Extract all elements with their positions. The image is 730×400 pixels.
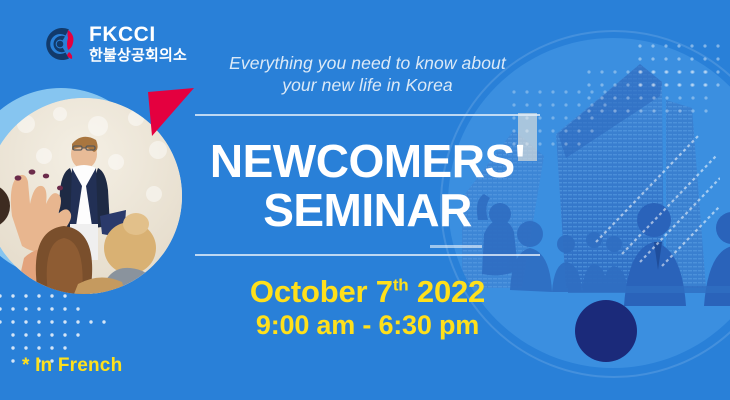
event-date-prefix: October 7 — [250, 274, 393, 309]
event-date-year: 2022 — [417, 274, 485, 309]
divider-top — [195, 114, 540, 116]
divider-bottom — [195, 254, 540, 256]
main-content: Everything you need to know about your n… — [195, 52, 540, 340]
newcomers-seminar-banner: FKCCI 한불상공회의소 Everything you need to kno… — [0, 0, 730, 400]
logo-title: FKCCI — [89, 24, 187, 45]
event-date-ordinal: th — [393, 276, 409, 295]
fkcci-logo-mark — [38, 22, 82, 66]
red-triangle-arrow — [140, 86, 202, 147]
tagline: Everything you need to know about your n… — [195, 52, 540, 97]
logo-text-block: FKCCI 한불상공회의소 — [89, 24, 187, 65]
event-time: 9:00 am - 6:30 pm — [195, 311, 540, 341]
fkcci-logo[interactable]: FKCCI 한불상공회의소 — [38, 22, 187, 66]
event-date: October 7th 2022 — [195, 275, 540, 308]
title-line-1: NEWCOMERS' — [210, 135, 525, 187]
language-footnote: * In French — [22, 355, 122, 377]
navy-accent-circle — [575, 300, 637, 362]
title-line-2: SEMINAR — [263, 184, 472, 236]
page-title: NEWCOMERS' SEMINAR — [195, 137, 540, 235]
tagline-line-1: Everything you need to know about — [229, 53, 506, 73]
logo-subtitle: 한불상공회의소 — [89, 48, 187, 63]
tagline-line-2: your new life in Korea — [282, 75, 452, 95]
